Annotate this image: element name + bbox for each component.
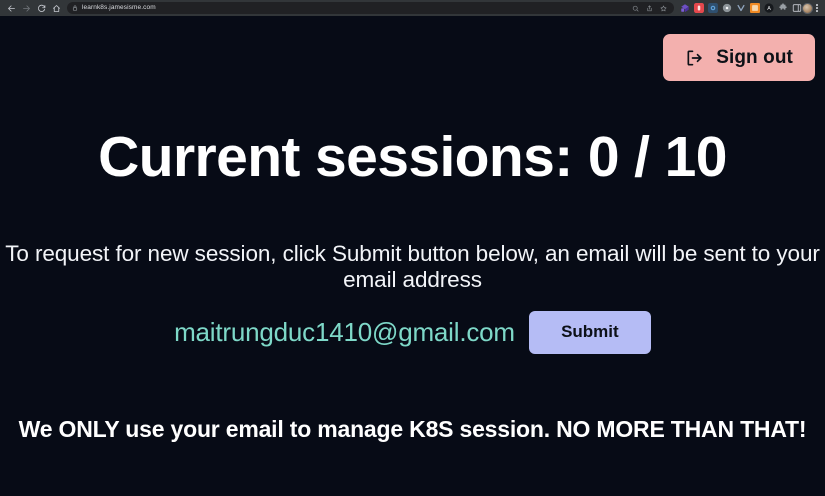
extension-gray-icon[interactable] — [722, 3, 732, 13]
sign-out-button[interactable]: Sign out — [663, 34, 815, 81]
forward-arrow-icon[interactable] — [19, 1, 34, 16]
profile-avatar[interactable] — [802, 3, 813, 14]
instruction-text: To request for new session, click Submit… — [0, 241, 825, 293]
page-body: Sign out Current sessions: 0 / 10 To req… — [0, 16, 825, 496]
sign-out-label: Sign out — [716, 47, 793, 69]
extension-v-icon[interactable] — [736, 3, 746, 13]
lock-icon — [72, 5, 78, 11]
share-icon[interactable] — [646, 5, 653, 12]
bookmark-star-icon[interactable] — [660, 5, 667, 12]
browser-toolbar: learnk8s.jamesisme.com — [0, 0, 825, 16]
page-title: Current sessions: 0 / 10 — [0, 126, 825, 189]
extensions-tray: A — [674, 3, 802, 13]
extension-orange-icon[interactable] — [750, 3, 760, 13]
extension-red-icon[interactable] — [694, 3, 704, 13]
submit-button[interactable]: Submit — [529, 311, 651, 354]
home-icon[interactable] — [49, 1, 64, 16]
side-panel-icon[interactable] — [792, 3, 802, 13]
email-submit-row: maitrungduc1410@gmail.com Submit — [0, 311, 825, 354]
privacy-note: We ONLY use your email to manage K8S ses… — [0, 416, 825, 443]
user-email: maitrungduc1410@gmail.com — [174, 317, 515, 348]
address-bar-url: learnk8s.jamesisme.com — [82, 2, 632, 14]
three-dot-menu-icon[interactable] — [813, 4, 821, 12]
search-icon[interactable] — [632, 5, 639, 12]
extension-blue-icon[interactable] — [708, 3, 718, 13]
signout-row: Sign out — [0, 16, 825, 81]
extensions-puzzle-icon[interactable] — [778, 3, 788, 13]
extension-purple-icon[interactable] — [680, 3, 690, 13]
extension-black-icon[interactable]: A — [764, 3, 774, 13]
reload-icon[interactable] — [34, 1, 49, 16]
logout-icon — [685, 48, 705, 68]
address-bar[interactable]: learnk8s.jamesisme.com — [67, 2, 674, 14]
svg-text:A: A — [768, 6, 772, 12]
back-arrow-icon[interactable] — [4, 1, 19, 16]
